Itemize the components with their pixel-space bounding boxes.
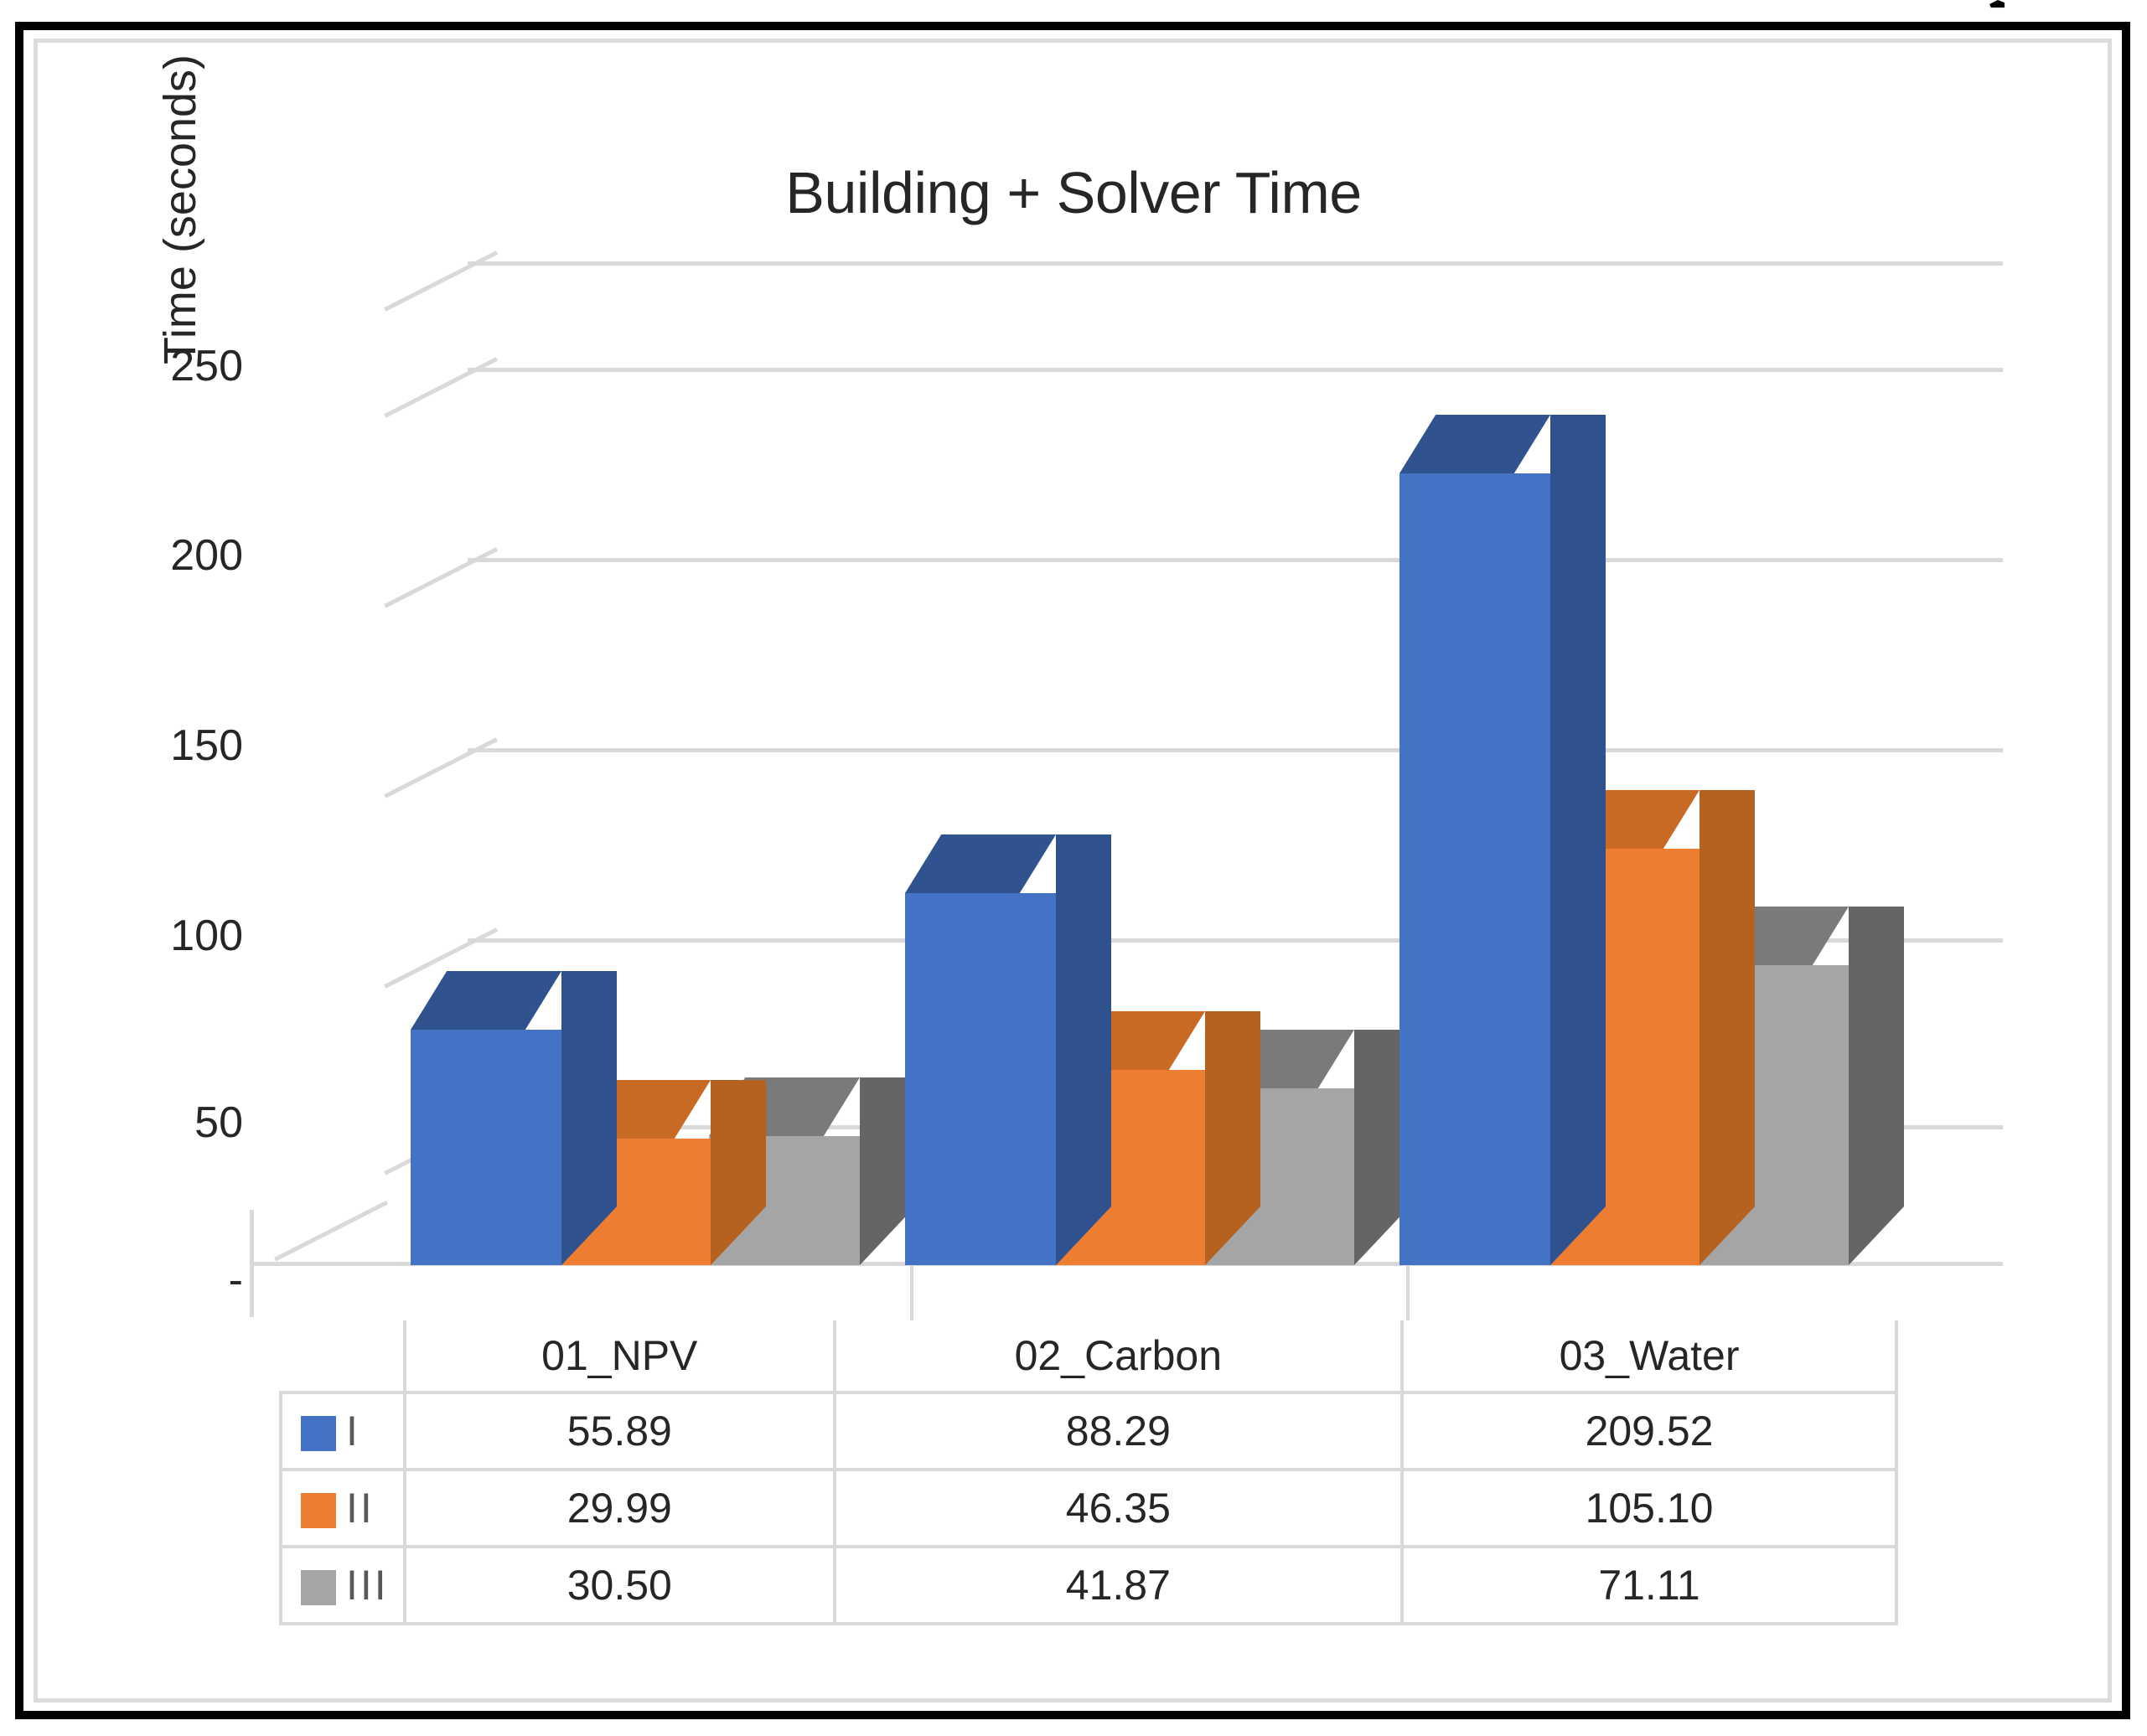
legend-swatch-icon: [301, 1416, 336, 1451]
category-separator-2: [1406, 1265, 1410, 1320]
table-cell: 46.35: [835, 1470, 1402, 1547]
table-cell: 29.99: [405, 1470, 835, 1547]
legend-entry-series-2[interactable]: II: [281, 1470, 405, 1547]
legend-entry-series-3[interactable]: III: [281, 1547, 405, 1624]
category-label-3: 03_Water: [1402, 1320, 1896, 1392]
gridline-275: [360, 261, 2003, 266]
y-tick-label-250: 250: [50, 341, 243, 391]
floor-depth-edge: [250, 1210, 367, 1268]
gridline-150: [360, 748, 2003, 753]
table-row: II 29.99 46.35 105.10: [281, 1470, 1896, 1547]
category-label-1: 01_NPV: [405, 1320, 835, 1392]
bar-front-face: [411, 1030, 561, 1265]
chart-canvas: Building + Solver Time Time (seconds) 25…: [0, 0, 2147, 1736]
y-tick-label-0: -: [50, 1255, 243, 1305]
bar-02Carbon-I: [905, 893, 1056, 1265]
bar-side-face: [1699, 790, 1755, 1265]
bar-front-face: [1399, 473, 1550, 1265]
gridline-250: [360, 368, 2003, 373]
bar-side-face: [1849, 907, 1904, 1265]
bar-front-face: [905, 893, 1056, 1265]
legend-label: I: [346, 1408, 360, 1454]
y-tick-label-150: 150: [50, 721, 243, 771]
y-tick-label-50: 50: [50, 1098, 243, 1148]
bar-side-face: [1056, 834, 1111, 1265]
table-row: I 55.89 88.29 209.52: [281, 1392, 1896, 1470]
category-label-2: 02_Carbon: [835, 1320, 1402, 1392]
category-separator-1: [910, 1265, 913, 1320]
legend-entry-series-1[interactable]: I: [281, 1392, 405, 1470]
y-tick-label-100: 100: [50, 911, 243, 961]
table-header-row: 01_NPV 02_Carbon 03_Water: [281, 1320, 1896, 1392]
table-cell: 41.87: [835, 1547, 1402, 1624]
bar-side-face: [1550, 415, 1606, 1265]
gridline-200: [360, 558, 2003, 563]
table-corner-cell: [281, 1320, 405, 1392]
table-row: III 30.50 41.87 71.11: [281, 1547, 1896, 1624]
table-cell: 30.50: [405, 1547, 835, 1624]
legend-swatch-icon: [301, 1493, 336, 1528]
bar-01NPV-I: [411, 1030, 561, 1265]
legend-label: III: [346, 1562, 389, 1609]
data-table: 01_NPV 02_Carbon 03_Water I 55.89 88.29 …: [279, 1320, 1898, 1625]
page-title: Building + Solver Time: [0, 159, 2147, 226]
legend-label: II: [346, 1485, 375, 1532]
table-cell: 105.10: [1402, 1470, 1896, 1547]
table-cell: 88.29: [835, 1392, 1402, 1470]
legend-swatch-icon: [301, 1570, 336, 1605]
table-cell: 209.52: [1402, 1392, 1896, 1470]
table-cell: 55.89: [405, 1392, 835, 1470]
y-tick-label-200: 200: [50, 530, 243, 581]
table-cell: 71.11: [1402, 1547, 1896, 1624]
bar-03Water-I: [1399, 473, 1550, 1265]
stray-crop-artifact: [1989, 0, 2005, 8]
